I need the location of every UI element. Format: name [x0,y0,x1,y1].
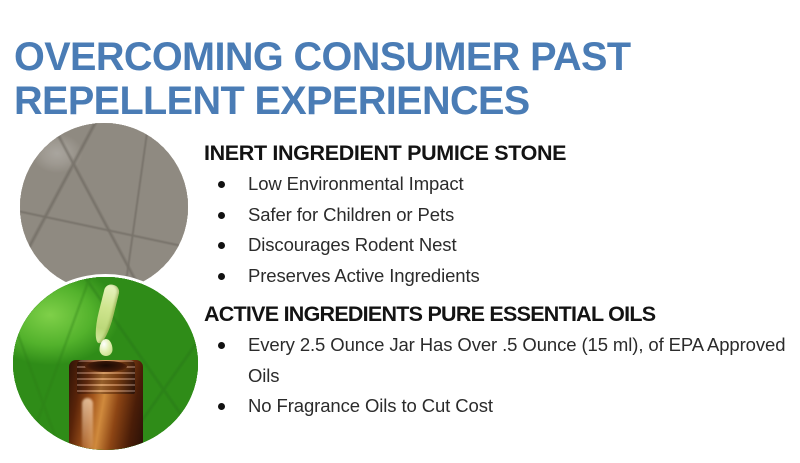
list-item-label: No Fragrance Oils to Cut Cost [248,391,796,422]
bullet-dot-icon [218,181,225,188]
list-item: Discourages Rodent Nest [204,230,796,261]
section-heading-inert-ingredient: INERT INGREDIENT PUMICE STONE [204,140,796,167]
essential-oil-photo [13,277,198,450]
content-column: INERT INGREDIENT PUMICE STONE Low Enviro… [204,140,796,432]
bullet-dot-icon [218,242,225,249]
list-item: No Fragrance Oils to Cut Cost [204,391,796,422]
page-title: OVERCOMING CONSUMER PAST REPELLENT EXPER… [14,35,786,123]
bullet-list-inert-ingredient: Low Environmental Impact Safer for Child… [204,169,796,291]
section-active-ingredients: ACTIVE INGREDIENTS PURE ESSENTIAL OILS E… [204,301,796,422]
section-heading-active-ingredients: ACTIVE INGREDIENTS PURE ESSENTIAL OILS [204,301,796,328]
bullet-list-active-ingredients: Every 2.5 Ounce Jar Has Over .5 Ounce (1… [204,330,796,422]
list-item-label: Low Environmental Impact [248,169,796,200]
list-item-label: Preserves Active Ingredients [248,261,796,292]
bottle-highlight [82,398,93,450]
list-item-label: Safer for Children or Pets [248,200,796,231]
bullet-dot-icon [218,212,225,219]
bullet-dot-icon [218,273,225,280]
list-item-label: Every 2.5 Ounce Jar Has Over .5 Ounce (1… [248,330,796,391]
list-item: Every 2.5 Ounce Jar Has Over .5 Ounce (1… [204,330,796,391]
bullet-dot-icon [218,403,225,410]
slide-root: OVERCOMING CONSUMER PAST REPELLENT EXPER… [0,0,800,463]
bullet-dot-icon [218,342,225,349]
list-item: Safer for Children or Pets [204,200,796,231]
section-inert-ingredient: INERT INGREDIENT PUMICE STONE Low Enviro… [204,140,796,291]
amber-oil-bottle [69,360,143,450]
list-item-label: Discourages Rodent Nest [248,230,796,261]
list-item: Preserves Active Ingredients [204,261,796,292]
list-item: Low Environmental Impact [204,169,796,200]
bottle-neck [77,360,135,394]
pumice-stone-photo [20,123,188,291]
pumice-stone-pores [20,123,188,291]
oil-droplet-icon [99,339,112,356]
bottle-mouth [85,361,127,372]
